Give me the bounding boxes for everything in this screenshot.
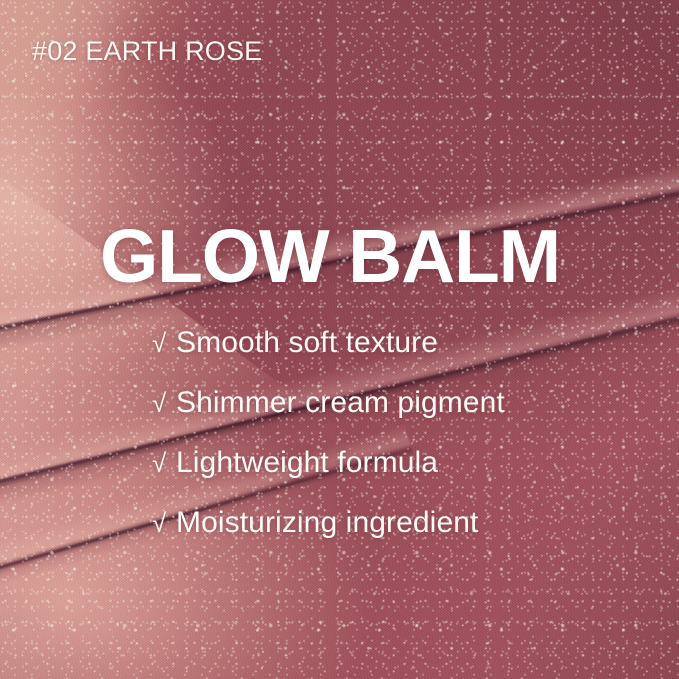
feature-item: √ Shimmer cream pigment — [152, 386, 505, 420]
feature-item: √ Lightweight formula — [152, 446, 505, 480]
feature-label: Lightweight formula — [176, 446, 438, 480]
product-banner: #02 EARTH ROSE GLOW BALM √ Smooth soft t… — [0, 0, 679, 679]
feature-item: √ Smooth soft texture — [152, 326, 505, 360]
feature-item: √ Moisturizing ingredient — [152, 506, 505, 540]
product-title: GLOW BALM — [100, 219, 560, 294]
check-icon: √ — [152, 448, 176, 479]
feature-label: Smooth soft texture — [176, 326, 438, 360]
shade-name-label: #02 EARTH ROSE — [32, 36, 262, 67]
check-icon: √ — [152, 388, 176, 419]
feature-list: √ Smooth soft texture √ Shimmer cream pi… — [152, 326, 505, 540]
banner-content: #02 EARTH ROSE GLOW BALM √ Smooth soft t… — [0, 0, 679, 679]
feature-label: Shimmer cream pigment — [176, 386, 505, 420]
check-icon: √ — [152, 328, 176, 359]
check-icon: √ — [152, 508, 176, 539]
feature-label: Moisturizing ingredient — [176, 506, 478, 540]
